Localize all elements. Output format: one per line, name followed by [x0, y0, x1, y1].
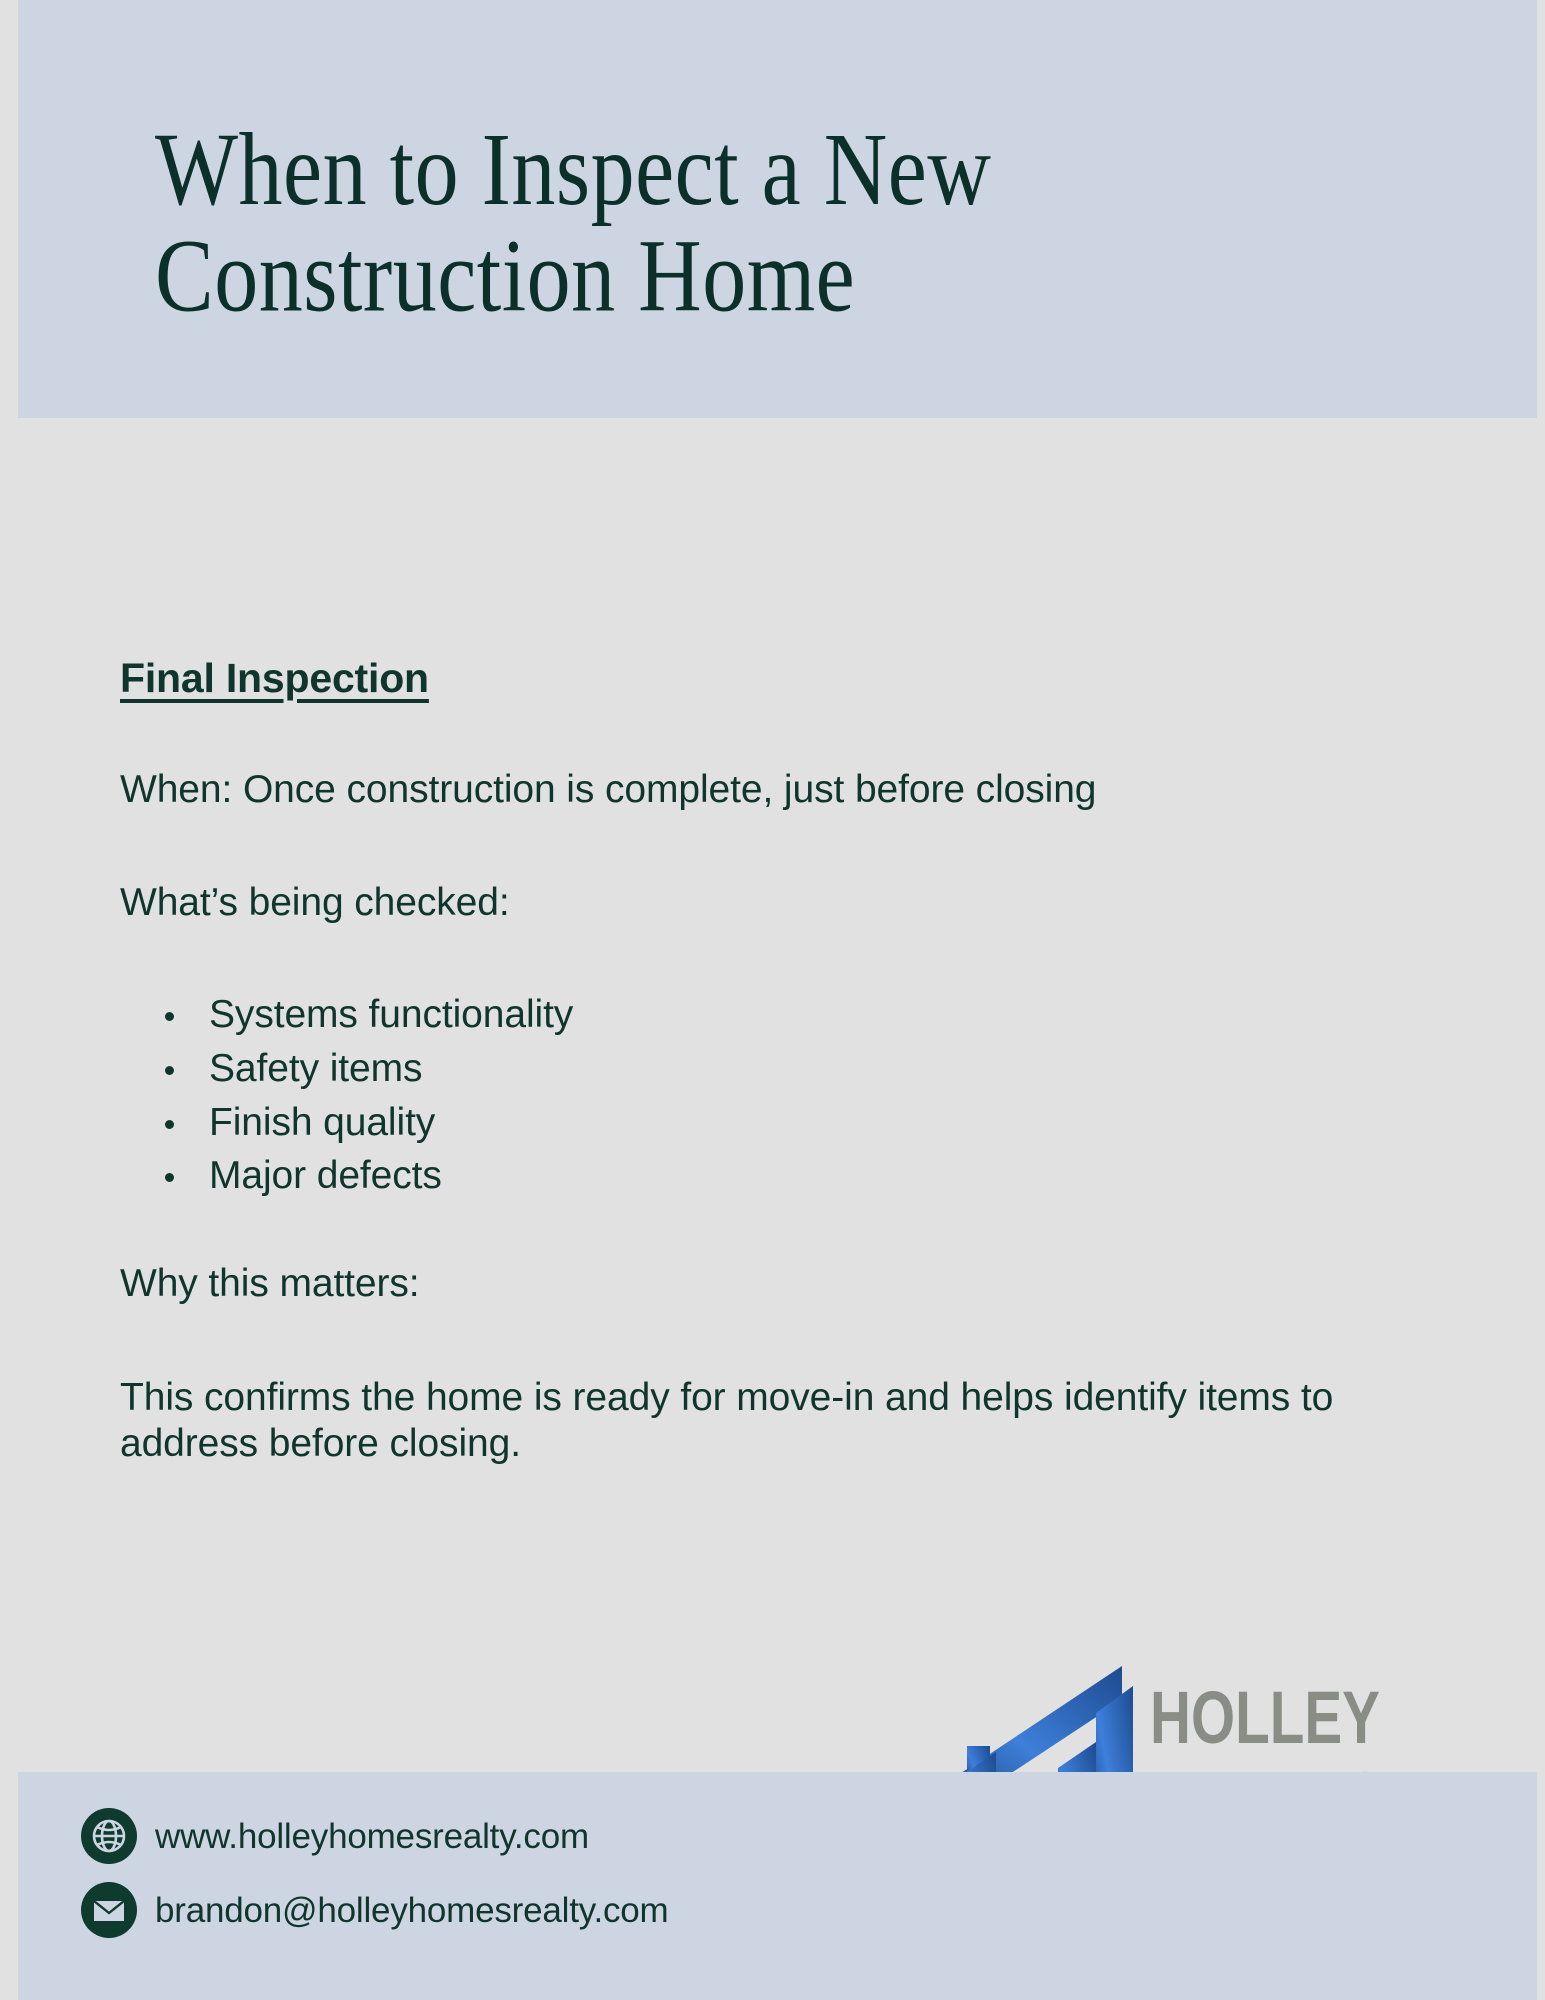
email-text: brandon@holleyhomesrealty.com: [155, 1893, 669, 1928]
footer-band: www.holleyhomesrealty.com brandon@holley…: [18, 1772, 1537, 2000]
contact-row-email[interactable]: brandon@holleyhomesrealty.com: [81, 1882, 669, 1938]
page-title: When to Inspect a New Construction Home: [155, 118, 1255, 330]
contact-list: www.holleyhomesrealty.com brandon@holley…: [81, 1808, 669, 1956]
why-paragraph: This confirms the home is ready for move…: [120, 1375, 1410, 1467]
checklist: Systems functionality Safety items Finis…: [120, 993, 1410, 1198]
when-paragraph: When: Once construction is complete, jus…: [120, 768, 1410, 812]
header-band: When to Inspect a New Construction Home: [18, 0, 1537, 418]
why-label: Why this matters:: [120, 1262, 1410, 1306]
website-text: www.holleyhomesrealty.com: [155, 1819, 589, 1854]
section-heading-final-inspection: Final Inspection: [120, 655, 1410, 702]
list-item: Major defects: [155, 1154, 1410, 1198]
logo-line-holley: HOLLEY: [1150, 1676, 1380, 1759]
list-item: Finish quality: [155, 1101, 1410, 1145]
list-item: Safety items: [155, 1047, 1410, 1091]
globe-icon: [81, 1808, 137, 1864]
envelope-icon: [81, 1882, 137, 1938]
main-content: Final Inspection When: Once construction…: [120, 655, 1410, 1467]
contact-row-website[interactable]: www.holleyhomesrealty.com: [81, 1808, 669, 1864]
list-item: Systems functionality: [155, 993, 1410, 1037]
checklist-label: What’s being checked:: [120, 881, 1410, 925]
flyer-page: When to Inspect a New Construction Home …: [0, 0, 1545, 2000]
